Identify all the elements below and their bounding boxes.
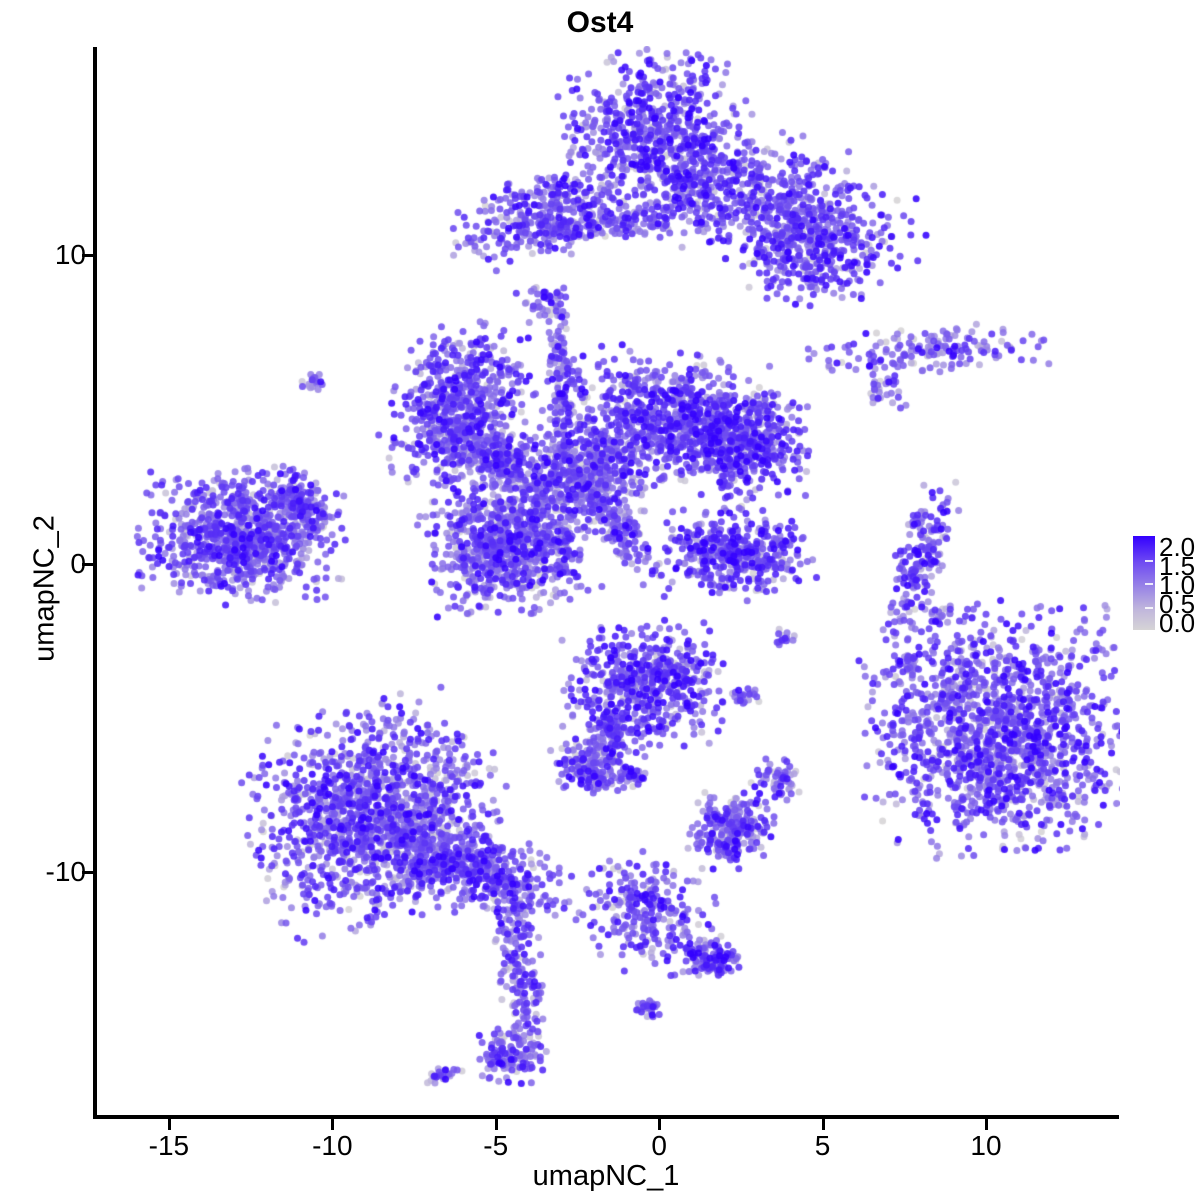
x-tick-label: -15 [149, 1130, 189, 1162]
legend-tick-mark [1145, 607, 1153, 609]
y-axis-line [93, 47, 97, 1119]
legend-tick-mark [1145, 560, 1153, 562]
x-tick-label: 5 [815, 1130, 831, 1162]
y-tick-label: 0 [70, 548, 86, 580]
x-tick-mark [495, 1119, 498, 1130]
legend-label: 0.0 [1159, 610, 1195, 636]
scatter-plot-canvas [97, 46, 1120, 1118]
page-title: Ost4 [0, 6, 1200, 40]
x-tick-label: -5 [483, 1130, 508, 1162]
color-legend[interactable]: 2.01.51.00.50.0 [1130, 533, 1200, 637]
x-tick-mark [331, 1119, 334, 1130]
x-tick-mark [168, 1119, 171, 1130]
legend-tick-mark [1145, 583, 1153, 585]
y-tick-label: 10 [55, 239, 86, 271]
x-tick-mark [985, 1119, 988, 1130]
y-axis-title: umapNC_2 [29, 279, 62, 899]
x-axis-line [93, 1115, 1119, 1119]
x-axis-title: umapNC_1 [93, 1160, 1119, 1193]
x-tick-label: 10 [970, 1130, 1001, 1162]
x-tick-label: 0 [651, 1130, 667, 1162]
x-tick-mark [822, 1119, 825, 1130]
umap-feature-plot: Ost4 -15-10-50510 100-10 umapNC_1 umapNC… [0, 0, 1200, 1200]
x-tick-label: -10 [312, 1130, 352, 1162]
x-tick-mark [658, 1119, 661, 1130]
